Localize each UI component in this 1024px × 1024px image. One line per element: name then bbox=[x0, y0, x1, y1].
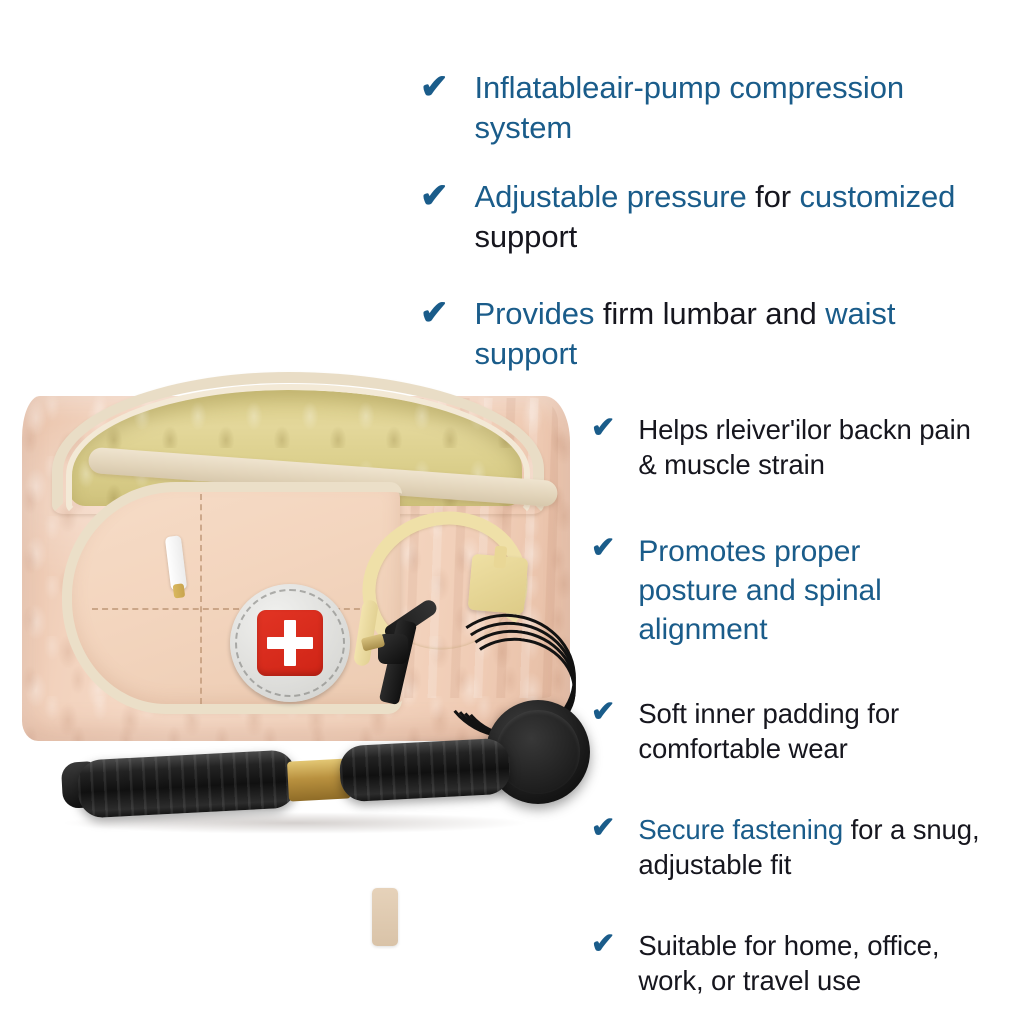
checkmark-icon: ✔ bbox=[420, 296, 449, 330]
feature-item-posture-alignment: ✔ Promotes proper posture and spinal ali… bbox=[591, 532, 951, 649]
belt-hose-loop bbox=[372, 888, 398, 946]
feature-text-run: Provides bbox=[475, 296, 603, 331]
feature-text-run: support bbox=[475, 219, 578, 254]
feature-text: Inflatableair-pump compression system bbox=[475, 68, 987, 149]
checkmark-icon: ✔ bbox=[420, 70, 449, 104]
feature-text: Promotes proper posture and spinal align… bbox=[638, 532, 951, 649]
feature-text: Soft inner padding for comfortable wear bbox=[638, 696, 989, 766]
feature-text: Helps rleiver'ilor backn pain & muscle s… bbox=[638, 412, 989, 482]
feature-text-run: for bbox=[755, 179, 799, 214]
feature-text-run: customized bbox=[800, 179, 956, 214]
feature-item-inflatable-air-pump: ✔ Inflatableair-pump compression system bbox=[420, 68, 986, 149]
feature-text-run: Secure fastening bbox=[638, 814, 850, 845]
feature-text: Adjustable pressure for customized suppo… bbox=[475, 177, 987, 258]
checkmark-icon: ✔ bbox=[591, 930, 615, 959]
checkmark-icon: ✔ bbox=[591, 534, 615, 563]
checkmark-icon: ✔ bbox=[591, 814, 615, 843]
medical-cross-badge bbox=[230, 584, 350, 702]
infographic-canvas: ✔ Inflatableair-pump compression system … bbox=[0, 0, 1024, 1024]
feature-text-run: Promotes proper posture and spinal align… bbox=[638, 535, 881, 646]
feature-text-run: Adjustable pressure bbox=[475, 179, 756, 214]
feature-text-run: Helps rleiver'ilor backn pain & muscle s… bbox=[638, 414, 971, 480]
hose-connector-block bbox=[468, 554, 529, 615]
feature-item-relieves-back-pain: ✔ Helps rleiver'ilor backn pain & muscle… bbox=[591, 412, 989, 482]
pump-grip-upper bbox=[339, 738, 512, 803]
belt-front-flap-binding bbox=[62, 482, 402, 714]
feature-text-run: Inflatableair-pump compression system bbox=[475, 70, 905, 145]
checkmark-icon: ✔ bbox=[591, 414, 615, 443]
feature-text-run: Suitable for home, office, work, or trav… bbox=[638, 930, 939, 996]
feature-text: Secure fastening for a snug, adjustable … bbox=[638, 812, 989, 882]
checkmark-icon: ✔ bbox=[420, 179, 449, 213]
feature-item-adjustable-pressure: ✔ Adjustable pressure for customized sup… bbox=[420, 177, 986, 258]
feature-text-run: Soft inner padding for comfortable wear bbox=[638, 698, 899, 764]
checkmark-icon: ✔ bbox=[591, 698, 615, 727]
belt-flap-seam bbox=[200, 494, 204, 704]
feature-item-secure-fastening: ✔ Secure fastening for a snug, adjustabl… bbox=[591, 812, 989, 882]
feature-text-run: firm lumbar and bbox=[603, 296, 825, 331]
red-cross-icon bbox=[257, 610, 323, 676]
feature-text: Suitable for home, office, work, or trav… bbox=[638, 928, 989, 998]
feature-item-lumbar-waist-support: ✔ Provides firm lumbar and waist support bbox=[420, 294, 986, 375]
feature-text: Provides firm lumbar and waist support bbox=[475, 294, 987, 375]
feature-item-suitable-anywhere: ✔ Suitable for home, office, work, or tr… bbox=[591, 928, 989, 998]
feature-item-soft-inner-padding: ✔ Soft inner padding for comfortable wea… bbox=[591, 696, 989, 766]
pump-grip-lower bbox=[77, 749, 298, 818]
